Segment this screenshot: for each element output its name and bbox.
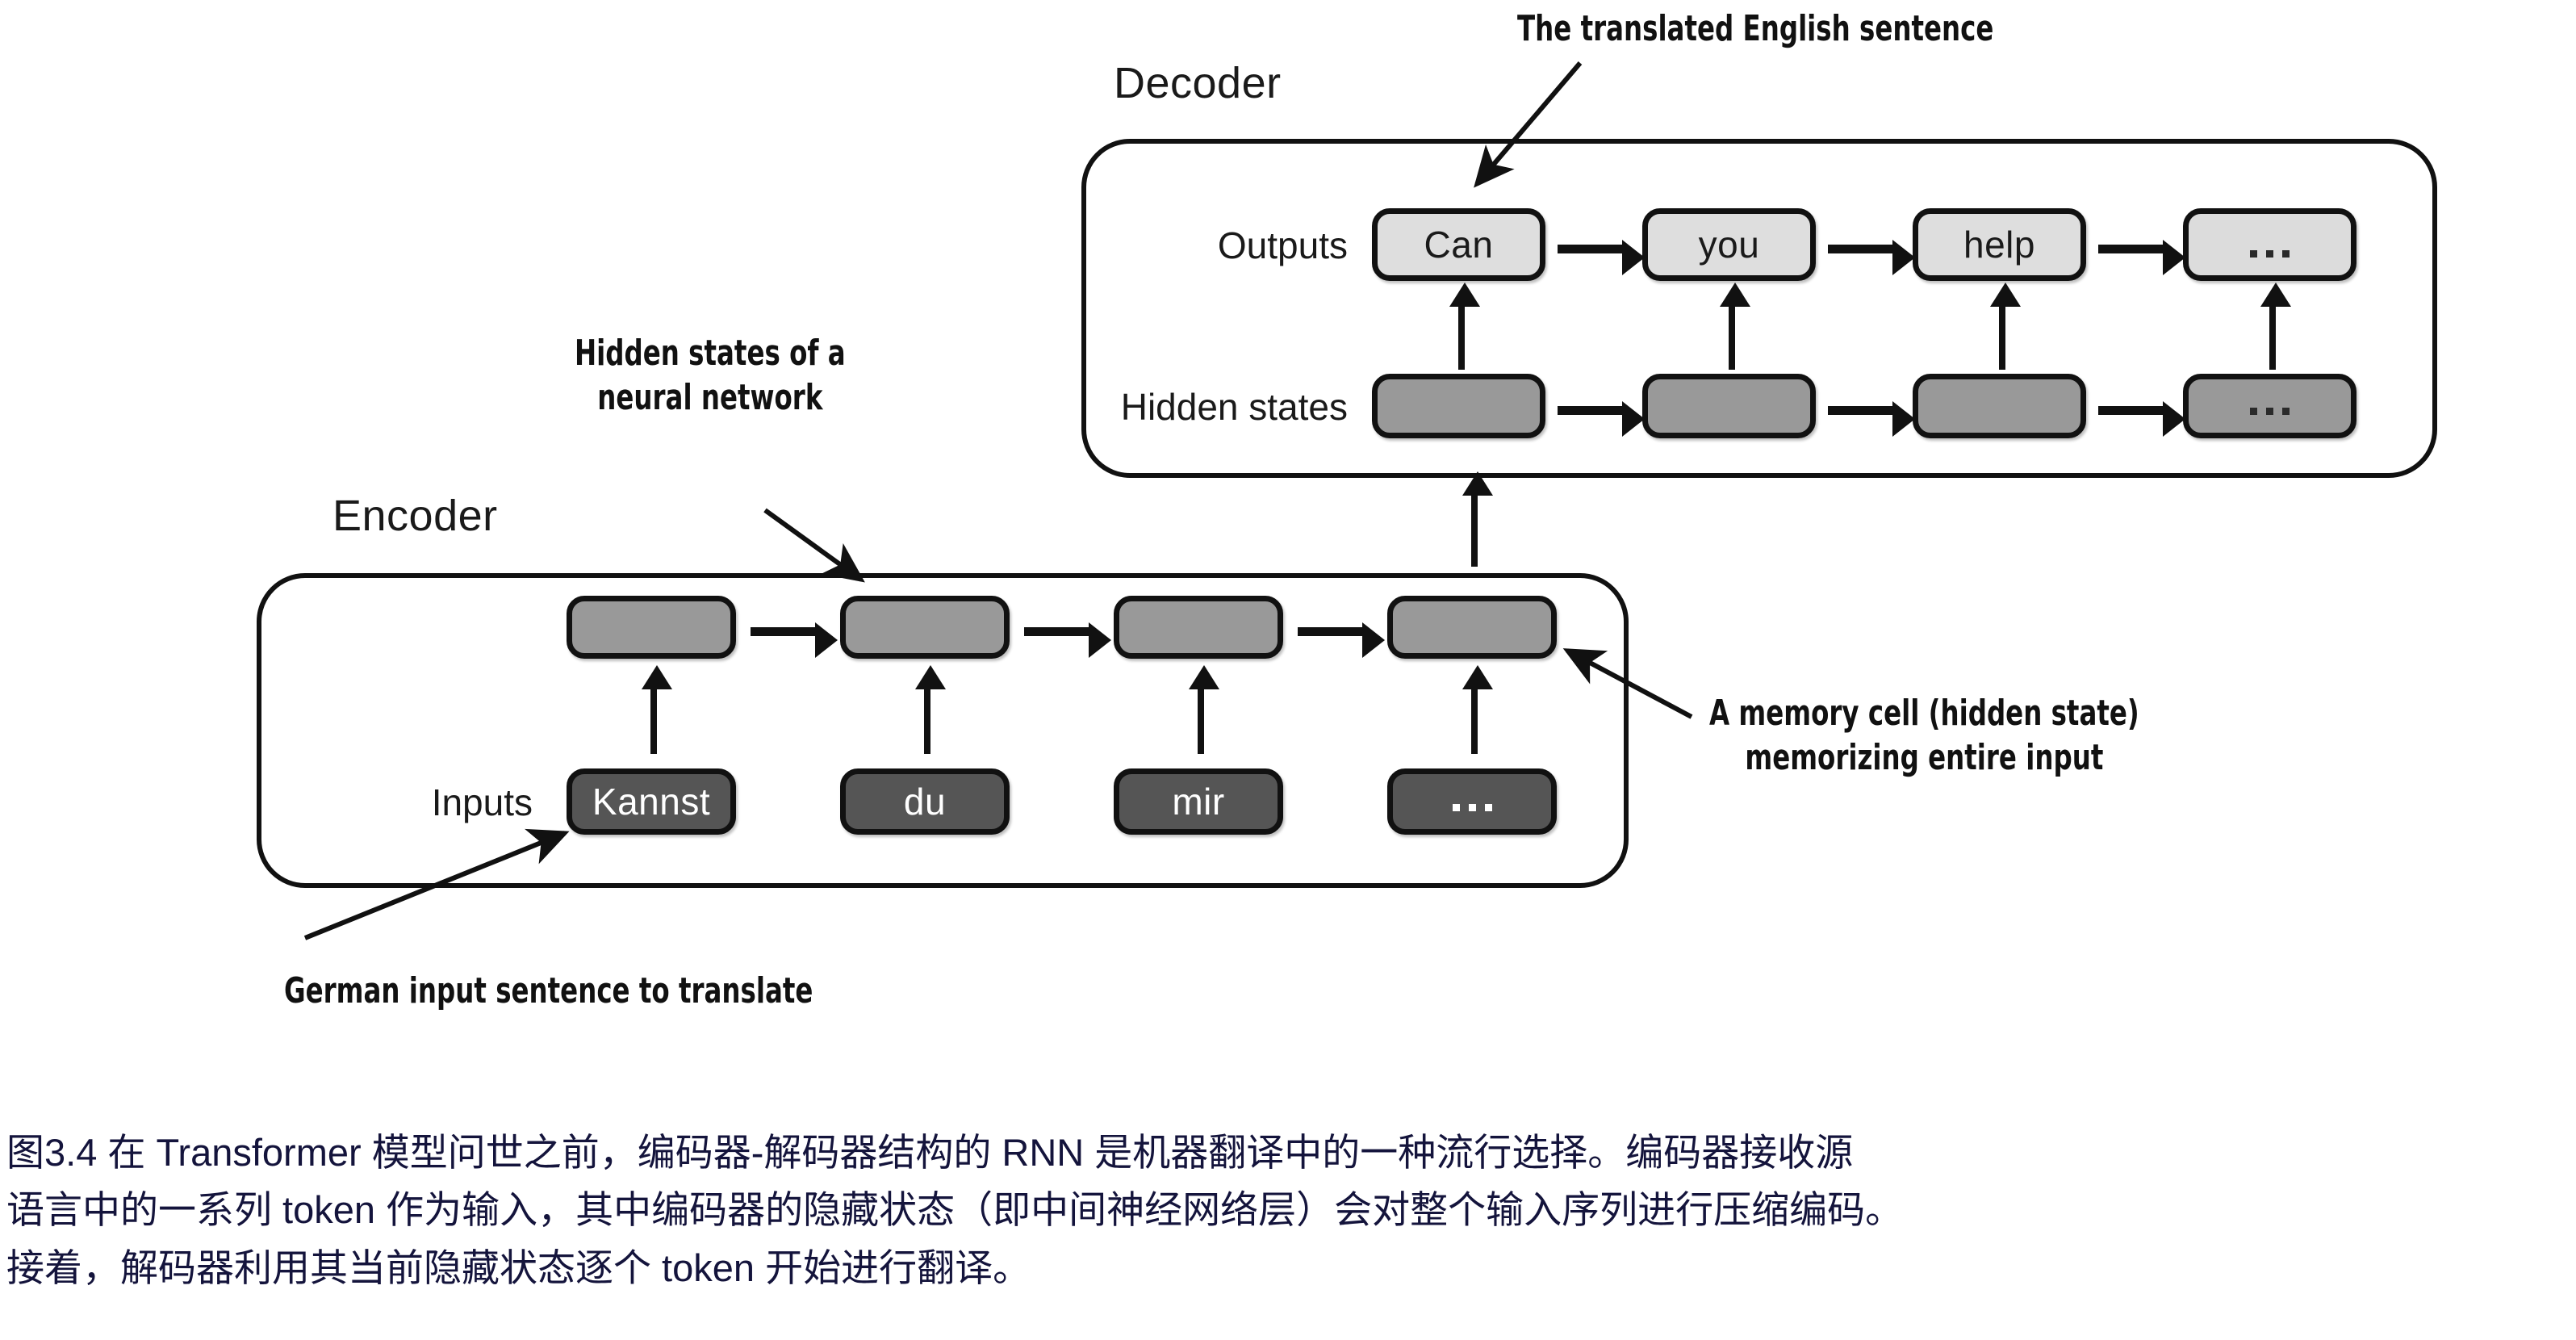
encoder-hidden-arrow-2 — [1298, 627, 1364, 636]
decoder-output-cell-3 — [2183, 208, 2356, 281]
figure-caption: 图3.4 在 Transformer 模型问世之前，编码器-解码器结构的 RNN… — [6, 1124, 2570, 1296]
decoder-vertical-arrow-2 — [1999, 305, 2005, 370]
decoder-hidden-states-row-label: Hidden states — [1073, 385, 1348, 429]
outputs-row-label: Outputs — [1154, 224, 1348, 267]
decoder-hidden-arrow-0 — [1558, 406, 1624, 415]
decoder-hidden-arrow-1 — [1828, 406, 1894, 415]
encoder-title: Encoder — [332, 491, 498, 541]
decoder-hidden-cell-2 — [1913, 374, 2086, 438]
annotation-hidden-states: Hidden states of a neural network — [575, 331, 846, 421]
encoder-hidden-cell-0 — [567, 596, 736, 659]
decoder-vertical-arrow-3 — [2269, 305, 2276, 370]
encoder-input-cell-3 — [1387, 768, 1557, 835]
decoder-vertical-arrow-0 — [1458, 305, 1465, 370]
decoder-output-cell-1: you — [1642, 208, 1816, 281]
decoder-output-label-1: you — [1699, 223, 1760, 266]
annotation-translated-sentence-line: The translated English sentence — [1517, 6, 1993, 51]
encoder-hidden-cell-3 — [1387, 596, 1557, 659]
annotation-german-input: German input sentence to translate — [284, 969, 813, 1013]
ellipsis-icon — [1453, 774, 1492, 829]
encoder-input-label-1: du — [904, 780, 946, 823]
decoder-output-cell-2: help — [1913, 208, 2086, 281]
annotation-hidden-states-line2: neural network — [575, 375, 846, 420]
decoder-hidden-cell-0 — [1372, 374, 1545, 438]
decoder-vertical-arrow-1 — [1729, 305, 1735, 370]
rnn-encoder-decoder-figure: Decoder Outputs Hidden states Can you he… — [0, 0, 2576, 1074]
encoder-input-label-0: Kannst — [592, 780, 710, 823]
encoder-to-decoder-arrow — [1471, 494, 1478, 567]
figure-caption-line-3: 接着，解码器利用其当前隐藏状态逐个 token 开始进行翻译。 — [6, 1239, 2570, 1296]
decoder-output-label-0: Can — [1424, 223, 1494, 266]
decoder-hidden-cell-3 — [2183, 374, 2356, 438]
encoder-input-cell-1: du — [840, 768, 1010, 835]
decoder-output-cell-0: Can — [1372, 208, 1545, 281]
decoder-output-arrow-2 — [2098, 245, 2164, 253]
annotation-translated-sentence: The translated English sentence — [1517, 6, 1993, 51]
encoder-vertical-arrow-2 — [1198, 688, 1204, 754]
inputs-row-label: Inputs — [339, 781, 533, 824]
decoder-hidden-arrow-2 — [2098, 406, 2164, 415]
annotation-memory-cell-line1: A memory cell (hidden state) — [1709, 691, 2139, 735]
encoder-hidden-cell-2 — [1114, 596, 1283, 659]
encoder-hidden-arrow-0 — [751, 627, 817, 636]
decoder-output-arrow-0 — [1558, 245, 1624, 253]
decoder-output-label-2: help — [1963, 223, 2035, 266]
decoder-hidden-cell-1 — [1642, 374, 1816, 438]
encoder-vertical-arrow-1 — [924, 688, 930, 754]
encoder-input-cell-0: Kannst — [567, 768, 736, 835]
encoder-input-label-2: mir — [1172, 780, 1224, 823]
encoder-hidden-arrow-1 — [1024, 627, 1090, 636]
decoder-output-arrow-1 — [1828, 245, 1894, 253]
encoder-vertical-arrow-3 — [1471, 688, 1478, 754]
encoder-input-cell-2: mir — [1114, 768, 1283, 835]
encoder-vertical-arrow-0 — [650, 688, 657, 754]
encoder-hidden-cell-1 — [840, 596, 1010, 659]
annotation-hidden-states-line1: Hidden states of a — [575, 331, 846, 375]
ellipsis-icon — [2250, 379, 2290, 433]
annotation-german-input-line: German input sentence to translate — [284, 969, 813, 1013]
ellipsis-icon — [2250, 214, 2290, 275]
annotation-memory-cell: A memory cell (hidden state) memorizing … — [1709, 691, 2139, 781]
figure-caption-line-1: 图3.4 在 Transformer 模型问世之前，编码器-解码器结构的 RNN… — [6, 1124, 2570, 1181]
decoder-title: Decoder — [1114, 58, 1282, 108]
figure-caption-line-2: 语言中的一系列 token 作为输入，其中编码器的隐藏状态（即中间神经网络层）会… — [6, 1181, 2570, 1238]
annotation-memory-cell-line2: memorizing entire input — [1709, 735, 2139, 780]
